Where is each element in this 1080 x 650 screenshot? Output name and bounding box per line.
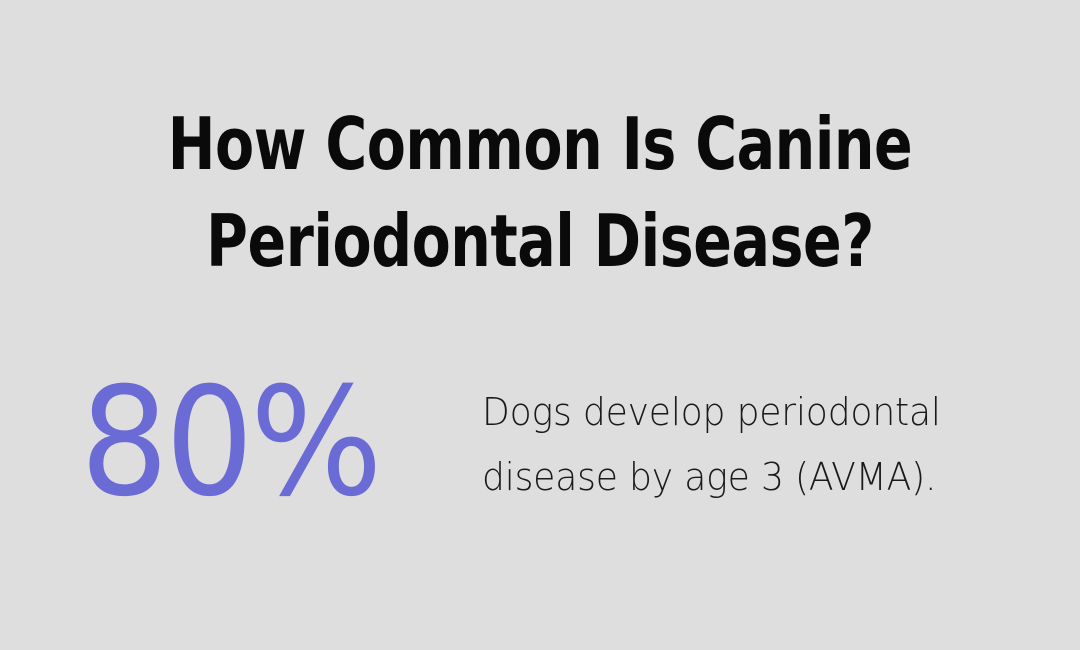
statistic-row: 80% Dogs develop periodontal disease by … [80,368,1010,518]
statistic-value: 80% [80,368,454,518]
title-block: How Common Is Canine Periodontal Disease… [0,96,1080,290]
statistic-description: Dogs develop periodontal disease by age … [482,368,984,510]
page-title: How Common Is Canine Periodontal Disease… [65,96,1015,290]
infographic-card: How Common Is Canine Periodontal Disease… [0,0,1080,650]
